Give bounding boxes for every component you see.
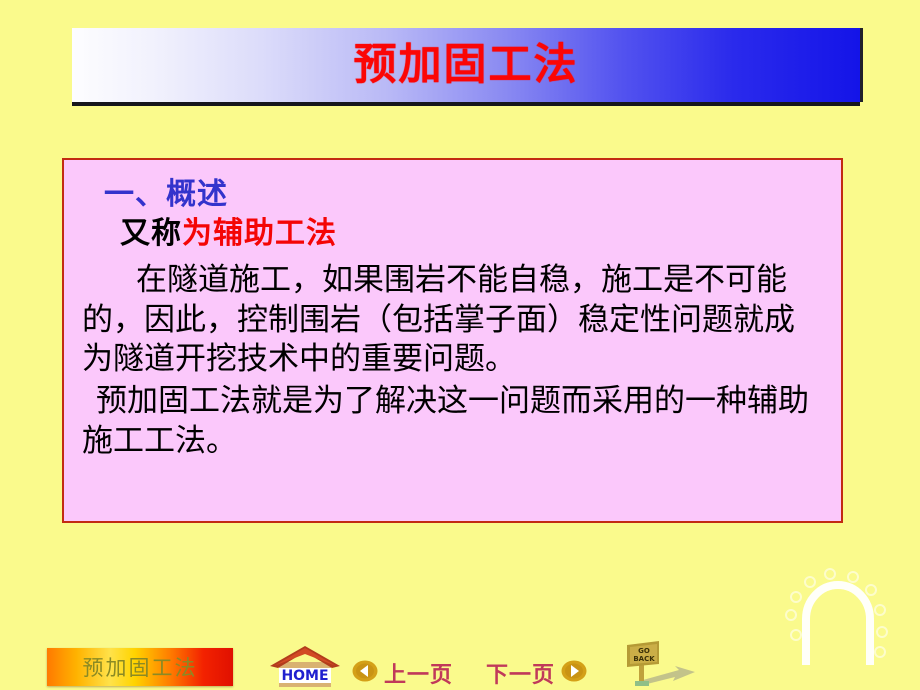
next-page-label: 下一页 bbox=[486, 657, 555, 689]
prev-page-label: 上一页 bbox=[384, 657, 453, 689]
page-title: 预加固工法 bbox=[354, 44, 579, 87]
circle-arrow-right-icon bbox=[561, 660, 587, 686]
body-paragraph-2: 预加固工法就是为了解决这一问题而采用的一种辅助施工工法。 bbox=[82, 382, 823, 461]
section-subheading: 又称为辅助工法 bbox=[120, 217, 823, 252]
go-back-line-1: GO bbox=[638, 647, 650, 655]
section-heading: 一、概述 bbox=[104, 178, 823, 213]
subheading-prefix: 又称 bbox=[120, 216, 182, 251]
go-back-line-2: BACK bbox=[633, 655, 655, 663]
subheading-emphasis: 为辅助工法 bbox=[182, 216, 337, 251]
slide-root: 预加固工法 一、概述 又称为辅助工法 在隧道施工，如果围岩不能自稳，施工是不可能… bbox=[0, 0, 920, 690]
slide-title-banner: 预加固工法 bbox=[72, 28, 860, 102]
brand-title-button[interactable]: 预加固工法 bbox=[47, 648, 233, 686]
prev-page-button[interactable]: 上一页 bbox=[352, 658, 453, 688]
go-back-signpost-icon[interactable]: GO BACK bbox=[613, 636, 699, 690]
brand-title-button-label: 预加固工法 bbox=[83, 652, 198, 682]
body-paragraph-1: 在隧道施工，如果围岩不能自稳，施工是不可能的，因此，控制围岩（包括掌子面）稳定性… bbox=[82, 261, 823, 380]
home-icon-label: HOME bbox=[281, 668, 328, 684]
circle-arrow-left-icon bbox=[352, 660, 378, 686]
content-panel: 一、概述 又称为辅助工法 在隧道施工，如果围岩不能自稳，施工是不可能的，因此，控… bbox=[62, 158, 843, 523]
home-icon[interactable]: HOME bbox=[266, 644, 344, 688]
next-page-button[interactable]: 下一页 bbox=[486, 658, 587, 688]
